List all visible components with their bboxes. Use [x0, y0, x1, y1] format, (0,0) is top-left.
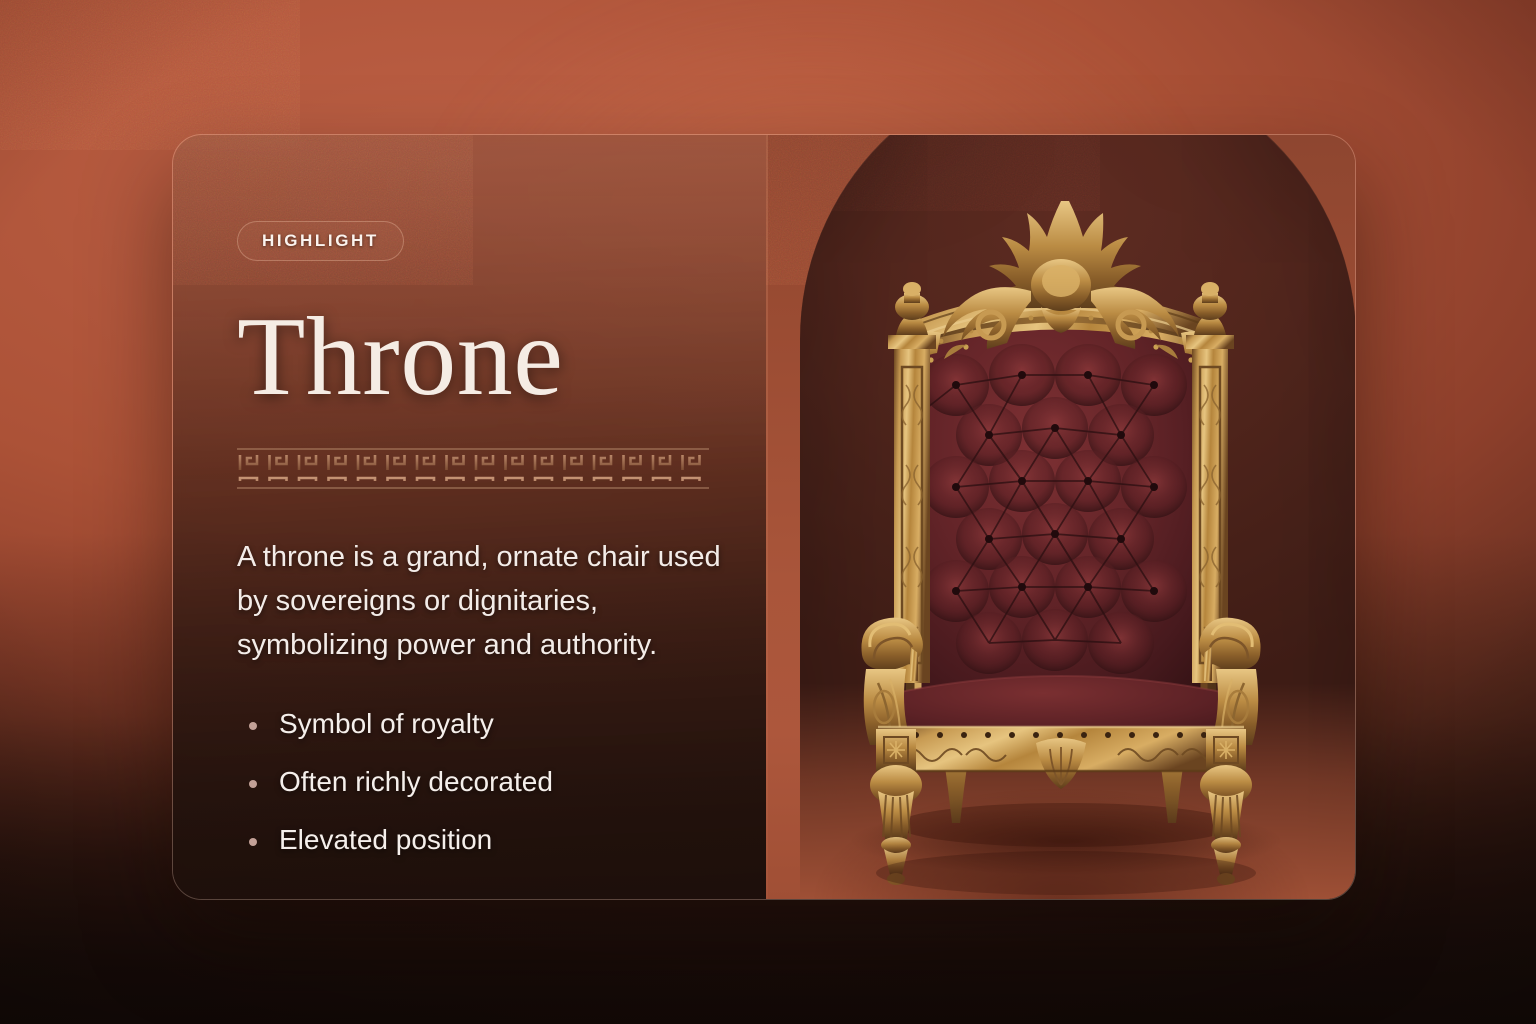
list-item-label: Symbol of royalty — [279, 708, 494, 739]
list-item-label: Elevated position — [279, 824, 492, 855]
list-item: Elevated position — [237, 824, 777, 856]
background-noise-texture — [0, 0, 300, 150]
bullet-dot-icon — [249, 722, 257, 730]
highlight-badge[interactable]: HIGHLIGHT — [237, 221, 404, 261]
greek-key-divider — [237, 447, 709, 491]
slide-canvas: HIGHLIGHT Throne — [0, 0, 1536, 1024]
text-column: HIGHLIGHT Throne — [237, 221, 777, 882]
list-item: Often richly decorated — [237, 766, 777, 798]
bullet-dot-icon — [249, 838, 257, 846]
page-title: Throne — [237, 303, 777, 413]
panel-left-edge — [766, 135, 768, 900]
panel-ground-shadow — [766, 671, 1356, 900]
list-item-label: Often richly decorated — [279, 766, 553, 797]
content-card: HIGHLIGHT Throne — [172, 134, 1356, 900]
throne-image-panel — [766, 135, 1356, 900]
description-text: A throne is a grand, ornate chair used b… — [237, 535, 737, 668]
bullet-dot-icon — [249, 780, 257, 788]
feature-list: Symbol of royalty Often richly decorated… — [237, 708, 777, 856]
list-item: Symbol of royalty — [237, 708, 777, 740]
